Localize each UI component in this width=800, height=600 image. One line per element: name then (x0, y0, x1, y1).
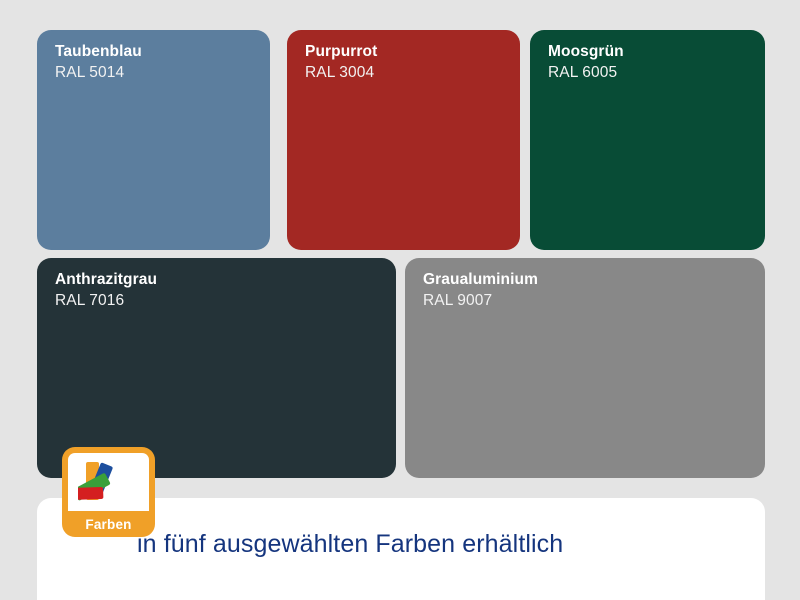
color-swatch-anthrazitgrau[interactable]: Anthrazitgrau RAL 7016 (37, 258, 396, 478)
swatch-label: Purpurrot RAL 3004 (305, 42, 377, 84)
color-swatch-moosgruen[interactable]: Moosgrün RAL 6005 (530, 30, 765, 250)
swatch-label: Graualuminium RAL 9007 (423, 270, 538, 312)
swatch-name: Moosgrün (548, 42, 624, 62)
swatch-label: Anthrazitgrau RAL 7016 (55, 270, 157, 312)
color-swatch-purpurrot[interactable]: Purpurrot RAL 3004 (287, 30, 520, 250)
color-swatch-taubenblau[interactable]: Taubenblau RAL 5014 (37, 30, 270, 250)
swatch-code: RAL 5014 (55, 63, 142, 83)
swatch-code: RAL 9007 (423, 291, 538, 311)
swatch-name: Graualuminium (423, 270, 538, 290)
swatch-code: RAL 6005 (548, 63, 624, 83)
swatch-name: Purpurrot (305, 42, 377, 62)
swatch-name: Anthrazitgrau (55, 270, 157, 290)
swatch-label: Moosgrün RAL 6005 (548, 42, 624, 84)
color-swatch-graualuminium[interactable]: Graualuminium RAL 9007 (405, 258, 765, 478)
farben-badge[interactable]: Farben (62, 447, 155, 537)
swatch-label: Taubenblau RAL 5014 (55, 42, 142, 84)
badge-icon-area (68, 453, 149, 511)
color-fan-icon (78, 459, 140, 505)
swatch-code: RAL 3004 (305, 63, 377, 83)
swatch-name: Taubenblau (55, 42, 142, 62)
availability-caption: in fünf ausgewählten Farben erhältlich (137, 530, 563, 559)
swatch-code: RAL 7016 (55, 291, 157, 311)
badge-label: Farben (62, 517, 155, 532)
color-swatch-board: Taubenblau RAL 5014 Purpurrot RAL 3004 M… (0, 0, 800, 600)
